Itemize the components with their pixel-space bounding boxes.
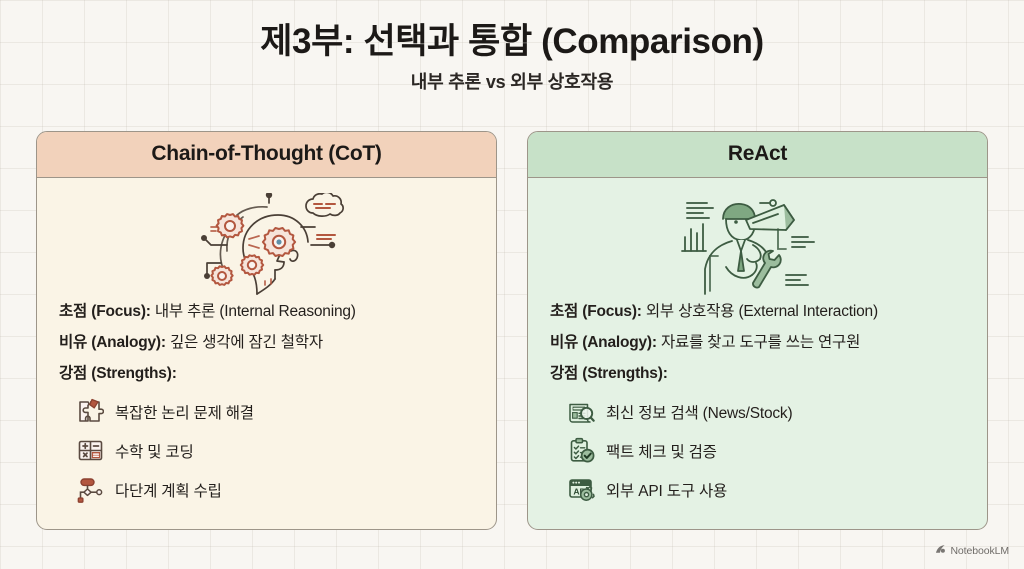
fact-focus-label-cot: 초점 (Focus): bbox=[59, 303, 151, 320]
fact-analogy-react: 비유 (Analogy): 자료를 찾고 도구를 쓰는 연구원 bbox=[550, 331, 987, 355]
fact-focus-value-react: 외부 상호작용 (External Interaction) bbox=[646, 303, 878, 320]
card-chain-of-thought: Chain-of-Thought (CoT) bbox=[36, 131, 497, 530]
list-item-label: 팩트 체크 및 검증 bbox=[606, 440, 717, 462]
facts-cot: 초점 (Focus): 내부 추론 (Internal Reasoning) 비… bbox=[37, 300, 496, 390]
puzzle-piece-icon bbox=[76, 397, 105, 426]
flowchart-icon bbox=[76, 475, 105, 504]
list-item: 최신 정보 검색 (News/Stock) bbox=[567, 395, 987, 428]
news-search-icon bbox=[567, 397, 596, 426]
fact-analogy-value-react: 자료를 찾고 도구를 쓰는 연구원 bbox=[661, 334, 860, 351]
researcher-with-telescope-illustration bbox=[528, 192, 987, 296]
fact-analogy-label-react: 비유 (Analogy): bbox=[550, 334, 657, 351]
facts-react: 초점 (Focus): 외부 상호작용 (External Interactio… bbox=[528, 300, 987, 390]
comparison-cards: Chain-of-Thought (CoT) bbox=[36, 131, 988, 530]
page-header: 제3부: 선택과 통합 (Comparison) 내부 추론 vs 외부 상호작… bbox=[0, 0, 1024, 94]
notebooklm-logo-icon bbox=[935, 542, 946, 560]
list-item-label: 외부 API 도구 사용 bbox=[606, 479, 727, 501]
list-item: 다단계 계획 수립 bbox=[76, 473, 496, 506]
clipboard-check-icon bbox=[567, 436, 596, 465]
fact-focus-react: 초점 (Focus): 외부 상호작용 (External Interactio… bbox=[550, 300, 987, 324]
list-item-label: 최신 정보 검색 (News/Stock) bbox=[606, 401, 792, 423]
list-item: 팩트 체크 및 검증 bbox=[567, 434, 987, 467]
list-item-label: 수학 및 코딩 bbox=[115, 440, 194, 462]
fact-focus-label-react: 초점 (Focus): bbox=[550, 303, 642, 320]
list-item: 수학 및 코딩 bbox=[76, 434, 496, 467]
card-title-react: ReAct bbox=[528, 132, 987, 178]
strengths-heading-cot: 강점 (Strengths): bbox=[59, 362, 496, 386]
list-item-label: 다단계 계획 수립 bbox=[115, 479, 222, 501]
card-body-cot: 초점 (Focus): 내부 추론 (Internal Reasoning) 비… bbox=[37, 178, 496, 529]
list-item-label: 복잡한 논리 문제 해결 bbox=[115, 401, 254, 423]
watermark-label: NotebookLM bbox=[950, 545, 1009, 557]
card-title-cot: Chain-of-Thought (CoT) bbox=[37, 132, 496, 178]
strengths-list-react: 최신 정보 검색 (News/Stock) bbox=[528, 395, 987, 512]
fact-focus-cot: 초점 (Focus): 내부 추론 (Internal Reasoning) bbox=[59, 300, 496, 324]
card-body-react: 초점 (Focus): 외부 상호작용 (External Interactio… bbox=[528, 178, 987, 529]
calculator-icon bbox=[76, 436, 105, 465]
fact-analogy-label-cot: 비유 (Analogy): bbox=[59, 334, 166, 351]
fact-analogy-value-cot: 깊은 생각에 잠긴 철학자 bbox=[170, 334, 323, 351]
strengths-heading-react: 강점 (Strengths): bbox=[550, 362, 987, 386]
list-item: API 외부 API 도구 사용 bbox=[567, 473, 987, 506]
list-item: 복잡한 논리 문제 해결 bbox=[76, 395, 496, 428]
head-with-gears-illustration bbox=[37, 192, 496, 296]
fact-focus-value-cot: 내부 추론 (Internal Reasoning) bbox=[155, 303, 356, 320]
notebooklm-watermark: NotebookLM bbox=[935, 542, 1009, 560]
page-subtitle: 내부 추론 vs 외부 상호작용 bbox=[0, 68, 1024, 94]
strengths-list-cot: 복잡한 논리 문제 해결 수학 및 코 bbox=[37, 395, 496, 512]
page-title: 제3부: 선택과 통합 (Comparison) bbox=[0, 22, 1024, 61]
card-react: ReAct bbox=[527, 131, 988, 530]
api-gear-icon: API bbox=[567, 475, 596, 504]
fact-analogy-cot: 비유 (Analogy): 깊은 생각에 잠긴 철학자 bbox=[59, 331, 496, 355]
